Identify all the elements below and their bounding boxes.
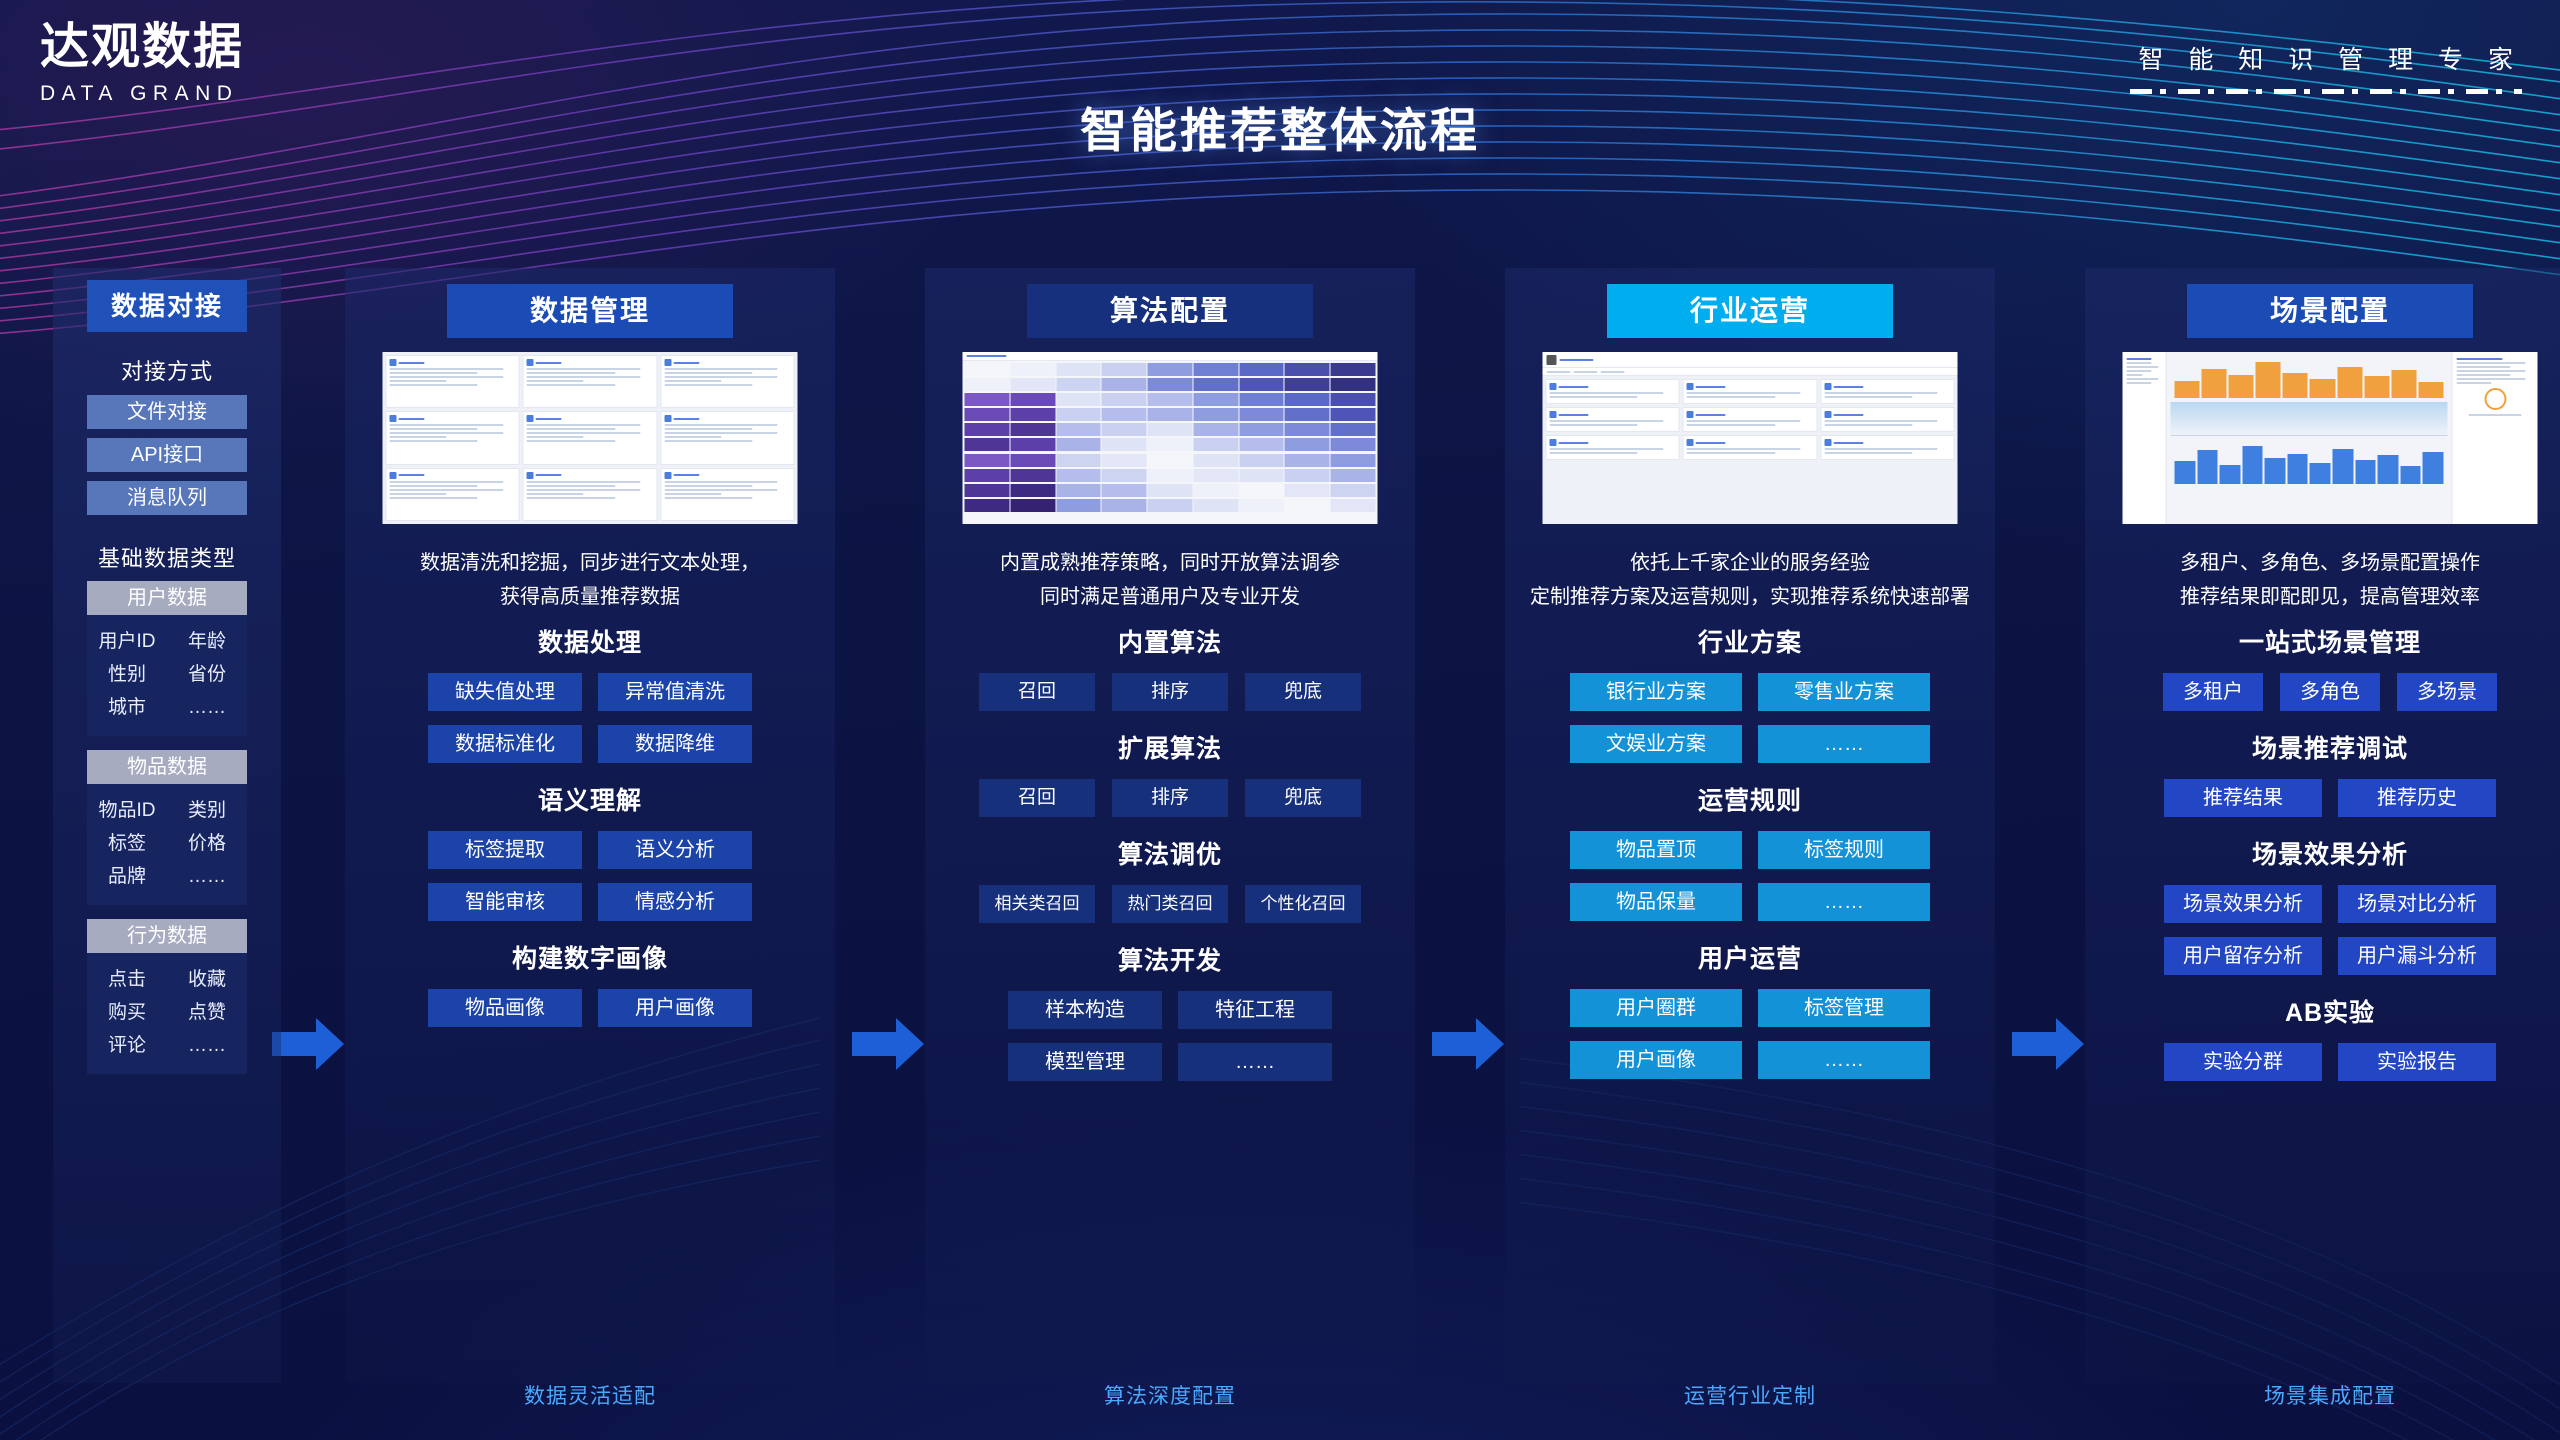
btn-builtin-fallback[interactable]: 兜底 [1245,673,1361,711]
btn-recommend-history[interactable]: 推荐历史 [2338,779,2496,817]
btn-missing-value[interactable]: 缺失值处理 [428,673,582,711]
block-title-digital-profile: 构建数字画像 [345,939,835,975]
group-header-item-data[interactable]: 物品数据 [87,750,247,784]
btn-user-profile[interactable]: 用户画像 [598,989,752,1027]
column-industry-operation: 行业运营 [1505,268,1995,1428]
block-title-extended-algorithm: 扩展算法 [925,729,1415,765]
btn-item-pin-top[interactable]: 物品置顶 [1570,831,1742,869]
btn-retail-solution[interactable]: 零售业方案 [1758,673,1930,711]
block-data-processing: 数据处理 缺失值处理异常值清洗 数据标准化数据降维 [345,623,835,763]
group-header-user-data[interactable]: 用户数据 [87,581,247,615]
btn-scene-compare-analysis[interactable]: 场景对比分析 [2338,885,2496,923]
field-behavior-2: 购买 [87,996,167,1029]
btn-standardize[interactable]: 数据标准化 [428,725,582,763]
group-body-behavior-data: 点击收藏 购买点赞 评论…… [87,953,247,1074]
block-semantic-understanding: 语义理解 标签提取语义分析 智能审核情感分析 [345,781,835,921]
block-onestop-scene-management: 一站式场景管理 多租户多角色多场景 [2085,623,2560,711]
field-behavior-1: 收藏 [167,963,247,996]
btn-tag-extract[interactable]: 标签提取 [428,831,582,869]
btn-item-guarantee[interactable]: 物品保量 [1570,883,1742,921]
block-title-builtin-algorithm: 内置算法 [925,623,1415,659]
field-user-2: 性别 [87,658,167,691]
column-description-scene-config: 多租户、多角色、多场景配置操作 推荐结果即配即见，提高管理效率 [2085,546,2560,614]
block-ab-experiment: AB实验 实验分群实验报告 [2085,993,2560,1081]
btn-multi-role[interactable]: 多角色 [2280,673,2380,711]
field-item-0: 物品ID [87,794,167,827]
block-title-data-processing: 数据处理 [345,623,835,659]
btn-tag-rules[interactable]: 标签规则 [1758,831,1930,869]
btn-builtin-recall[interactable]: 召回 [979,673,1095,711]
field-behavior-4: 评论 [87,1029,167,1062]
column3-blocks: 内置算法 召回排序兜底 扩展算法 召回排序兜底 算法调优 相关类召回热门类召回个… [925,623,1415,1099]
btn-ext-rank[interactable]: 排序 [1112,779,1228,817]
screenshot-thumbnail-industry-operation [1543,352,1958,524]
desc-line-2: 定制推荐方案及运营规则，实现推荐系统快速部署 [1505,580,1995,614]
block-extended-algorithm: 扩展算法 召回排序兜底 [925,729,1415,817]
field-user-0: 用户ID [87,625,167,658]
column-description-data-management: 数据清洗和挖掘，同步进行文本处理， 获得高质量推荐数据 [345,546,835,614]
field-behavior-5: …… [167,1029,247,1062]
column-algorithm-config: 算法配置 [925,268,1415,1428]
btn-sample-construct[interactable]: 样本构造 [1008,991,1162,1029]
block-industry-solution: 行业方案 银行业方案零售业方案 文娱业方案…… [1505,623,1995,763]
block-scene-effect-analysis: 场景效果分析 场景效果分析场景对比分析 用户留存分析用户漏斗分析 [2085,835,2560,975]
desc-line-2: 获得高质量推荐数据 [345,580,835,614]
block-user-operation: 用户运营 用户圈群标签管理 用户画像…… [1505,939,1995,1079]
docking-method-file[interactable]: 文件对接 [87,395,247,429]
column5-blocks: 一站式场景管理 多租户多角色多场景 场景推荐调试 推荐结果推荐历史 场景效果分析… [2085,623,2560,1099]
arrow-icon-2 [852,1018,924,1070]
column-header-scene-config[interactable]: 场景配置 [2187,284,2473,338]
block-title-industry-solution: 行业方案 [1505,623,1995,659]
btn-entertainment-solution[interactable]: 文娱业方案 [1570,725,1742,763]
column-footer-data-management: 数据灵活适配 [345,1380,835,1410]
field-user-1: 年龄 [167,625,247,658]
column1-body: 对接方式 文件对接 API接口 消息队列 基础数据类型 用户数据 用户ID年龄 … [53,338,281,1074]
field-item-4: 品牌 [87,860,167,893]
column-footer-algorithm-config: 算法深度配置 [925,1380,1415,1410]
column4-blocks: 行业方案 银行业方案零售业方案 文娱业方案…… 运营规则 物品置顶标签规则 物品… [1505,623,1995,1097]
btn-smart-audit[interactable]: 智能审核 [428,883,582,921]
block-title-operation-rules: 运营规则 [1505,781,1995,817]
btn-experiment-report[interactable]: 实验报告 [2338,1043,2496,1081]
docking-method-api[interactable]: API接口 [87,438,247,472]
field-user-4: 城市 [87,691,167,724]
group-header-behavior-data[interactable]: 行为数据 [87,919,247,953]
btn-user-funnel-analysis[interactable]: 用户漏斗分析 [2338,937,2496,975]
screenshot-thumbnail-data-management [383,352,798,524]
block-builtin-algorithm: 内置算法 召回排序兜底 [925,623,1415,711]
btn-more-user-op[interactable]: …… [1758,1041,1930,1079]
field-user-5: …… [167,691,247,724]
field-item-3: 价格 [167,827,247,860]
screenshot-thumbnail-scene-config [2123,352,2538,524]
btn-more-solution[interactable]: …… [1758,725,1930,763]
block-title-algorithm-development: 算法开发 [925,941,1415,977]
block-title-user-operation: 用户运营 [1505,939,1995,975]
btn-model-management[interactable]: 模型管理 [1008,1043,1162,1081]
desc-line-2: 同时满足普通用户及专业开发 [925,580,1415,614]
btn-builtin-rank[interactable]: 排序 [1112,673,1228,711]
column-description-algorithm-config: 内置成熟推荐策略，同时开放算法调参 同时满足普通用户及专业开发 [925,546,1415,614]
group-body-item-data: 物品ID类别 标签价格 品牌…… [87,784,247,905]
screenshot-thumbnail-algorithm-config [963,352,1378,524]
block-digital-profile: 构建数字画像 物品画像用户画像 [345,939,835,1027]
btn-tag-management[interactable]: 标签管理 [1758,989,1930,1027]
btn-semantic-analysis[interactable]: 语义分析 [598,831,752,869]
column-description-industry-operation: 依托上千家企业的服务经验 定制推荐方案及运营规则，实现推荐系统快速部署 [1505,546,1995,614]
btn-hot-recall[interactable]: 热门类召回 [1112,885,1228,923]
block-title-algorithm-tuning: 算法调优 [925,835,1415,871]
block-operation-rules: 运营规则 物品置顶标签规则 物品保量…… [1505,781,1995,921]
block-title-semantic: 语义理解 [345,781,835,817]
btn-more-algo-dev[interactable]: …… [1178,1043,1332,1081]
btn-recommend-result[interactable]: 推荐结果 [2164,779,2322,817]
tagline-text: 智 能 知 识 管 理 专 家 [2130,40,2522,76]
column-footer-scene-config: 场景集成配置 [2085,1380,2560,1410]
btn-dim-reduce[interactable]: 数据降维 [598,725,752,763]
btn-user-profile-op[interactable]: 用户画像 [1570,1041,1742,1079]
section-label-docking-method: 对接方式 [53,354,281,386]
column-header-data-docking[interactable]: 数据对接 [87,280,247,332]
arrow-icon-3 [1432,1018,1504,1070]
field-behavior-0: 点击 [87,963,167,996]
column-footer-industry-operation: 运营行业定制 [1505,1380,1995,1410]
column-header-algorithm-config[interactable]: 算法配置 [1027,284,1313,338]
arrow-icon-1 [272,1018,344,1070]
arrow-icon-4 [2012,1018,2084,1070]
desc-line-1: 多租户、多角色、多场景配置操作 [2085,546,2560,580]
block-title-onestop-scene: 一站式场景管理 [2085,623,2560,659]
btn-banking-solution[interactable]: 银行业方案 [1570,673,1742,711]
btn-feature-engineering[interactable]: 特征工程 [1178,991,1332,1029]
btn-more-rules[interactable]: …… [1758,883,1930,921]
desc-line-2: 推荐结果即配即见，提高管理效率 [2085,580,2560,614]
flow-diagram: 数据对接 对接方式 文件对接 API接口 消息队列 基础数据类型 用户数据 用户… [0,268,2560,1428]
docking-method-mq[interactable]: 消息队列 [87,481,247,515]
btn-experiment-grouping[interactable]: 实验分群 [2164,1043,2322,1081]
btn-multi-tenant[interactable]: 多租户 [2163,673,2263,711]
column-data-docking: 数据对接 对接方式 文件对接 API接口 消息队列 基础数据类型 用户数据 用户… [53,268,281,1428]
page-title: 智能推荐整体流程 [0,92,2560,161]
block-title-scene-debug: 场景推荐调试 [2085,729,2560,765]
field-item-1: 类别 [167,794,247,827]
section-label-base-data-type: 基础数据类型 [53,541,281,573]
block-algorithm-tuning: 算法调优 相关类召回热门类召回个性化召回 [925,835,1415,923]
btn-user-grouping[interactable]: 用户圈群 [1570,989,1742,1027]
desc-line-1: 数据清洗和挖掘，同步进行文本处理， [345,546,835,580]
desc-line-1: 内置成熟推荐策略，同时开放算法调参 [925,546,1415,580]
btn-ext-recall[interactable]: 召回 [979,779,1095,817]
slide-canvas: 达观数据 DATA GRAND 智 能 知 识 管 理 专 家 智能推荐整体流程… [0,0,2560,1440]
column2-blocks: 数据处理 缺失值处理异常值清洗 数据标准化数据降维 语义理解 标签提取语义分析 … [345,623,835,1045]
brand-name-cn: 达观数据 [40,22,360,71]
group-body-user-data: 用户ID年龄 性别省份 城市…… [87,615,247,736]
btn-multi-scene[interactable]: 多场景 [2397,673,2497,711]
column-header-data-management[interactable]: 数据管理 [447,284,733,338]
btn-outlier-clean[interactable]: 异常值清洗 [598,673,752,711]
block-title-ab-experiment: AB实验 [2085,993,2560,1029]
btn-sentiment-analysis[interactable]: 情感分析 [598,883,752,921]
btn-related-recall[interactable]: 相关类召回 [979,885,1095,923]
field-item-5: …… [167,860,247,893]
block-title-scene-effect: 场景效果分析 [2085,835,2560,871]
block-algorithm-development: 算法开发 样本构造特征工程 模型管理…… [925,941,1415,1081]
field-item-2: 标签 [87,827,167,860]
btn-item-profile[interactable]: 物品画像 [428,989,582,1027]
block-scene-recommend-debug: 场景推荐调试 推荐结果推荐历史 [2085,729,2560,817]
tagline-block: 智 能 知 识 管 理 专 家 [2130,40,2522,94]
column-header-industry-operation[interactable]: 行业运营 [1607,284,1893,338]
column-data-management: 数据管理 数据清洗和挖掘，同步进行文本处理， 获得高质量推荐数据 [345,268,835,1428]
field-behavior-3: 点赞 [167,996,247,1029]
desc-line-1: 依托上千家企业的服务经验 [1505,546,1995,580]
btn-scene-effect-analysis[interactable]: 场景效果分析 [2164,885,2322,923]
btn-user-retention-analysis[interactable]: 用户留存分析 [2164,937,2322,975]
btn-personal-recall[interactable]: 个性化召回 [1245,885,1361,923]
btn-ext-fallback[interactable]: 兜底 [1245,779,1361,817]
column-scene-config: 场景配置 [2085,268,2560,1428]
field-user-3: 省份 [167,658,247,691]
